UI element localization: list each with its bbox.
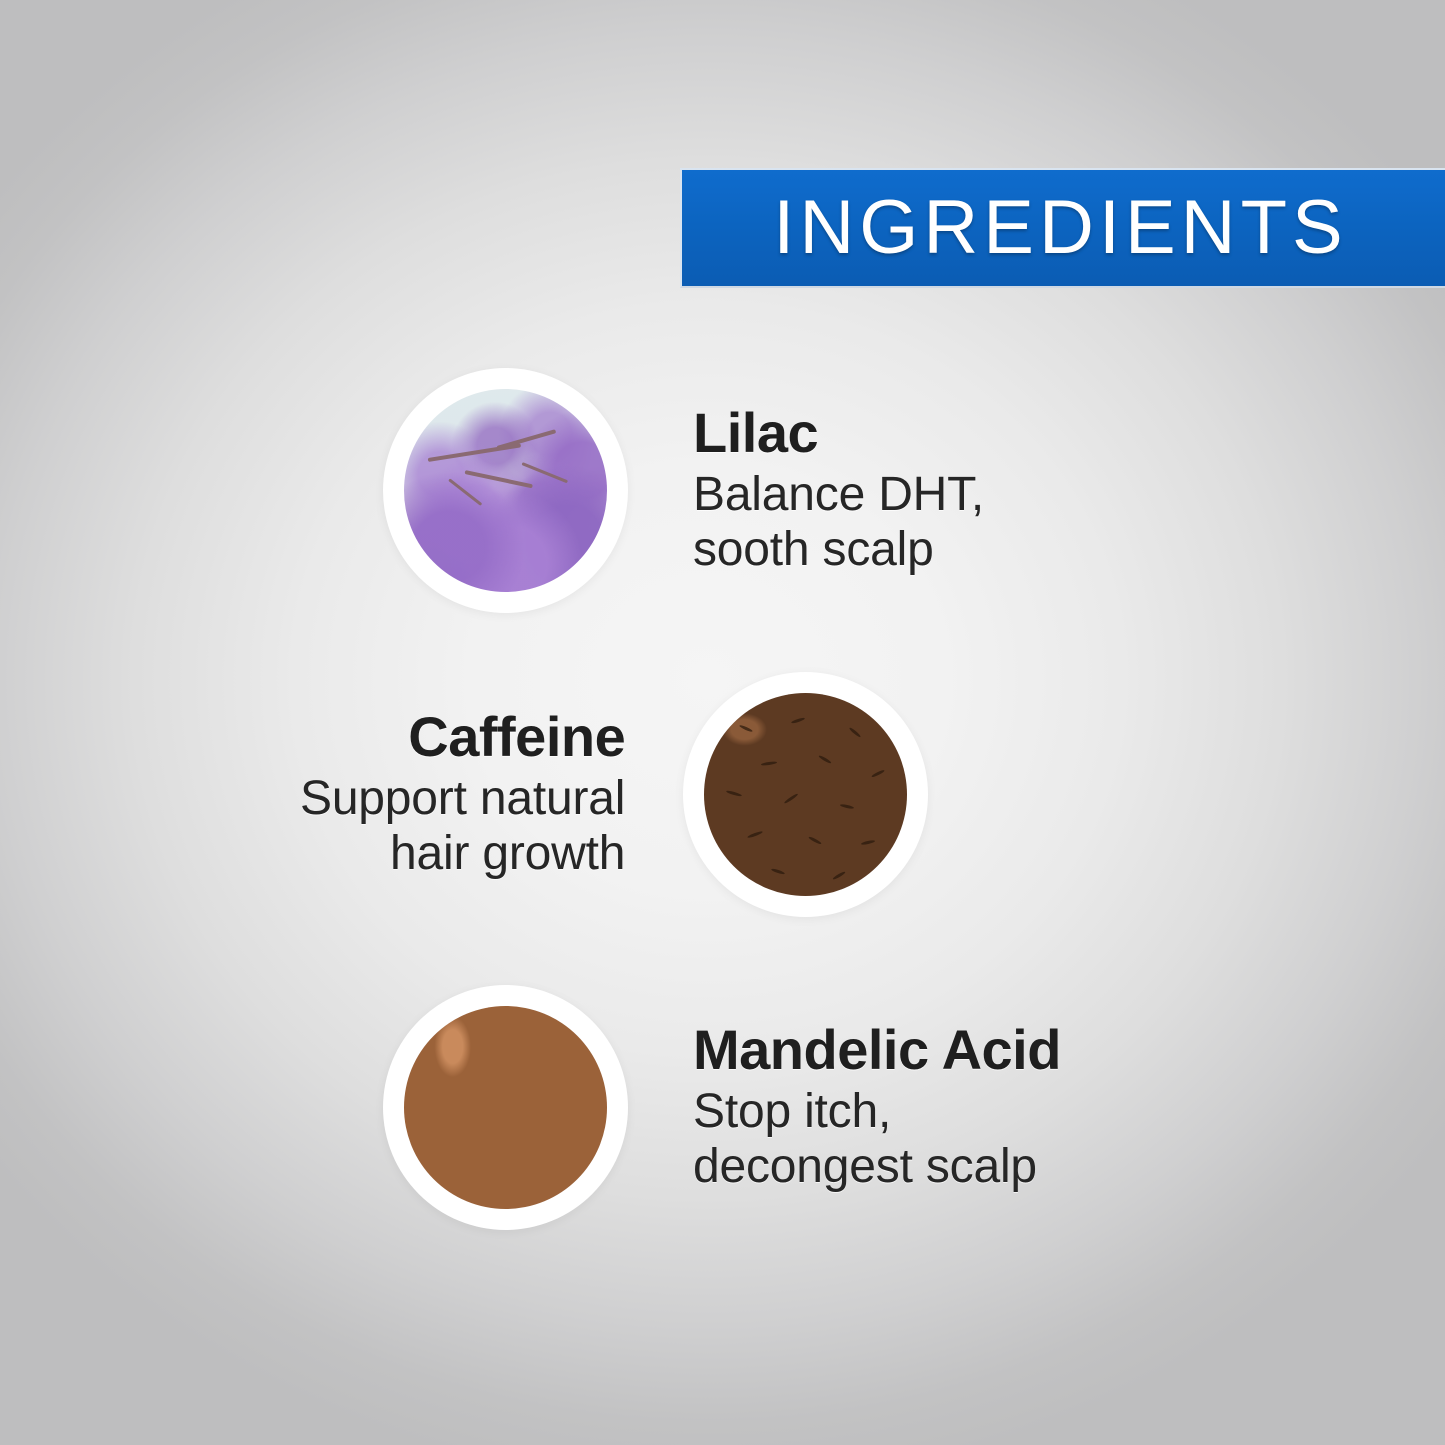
coffee-beans-photo — [704, 693, 907, 896]
caffeine-text-block: Caffeine Support natural hair growth — [300, 707, 625, 882]
ingredient-description-lilac: Balance DHT, sooth scalp — [693, 467, 984, 578]
almonds-photo — [404, 1006, 607, 1209]
page-title: INGREDIENTS — [773, 190, 1353, 266]
ingredient-row-mandelic-acid: Mandelic Acid Stop itch, decongest scalp — [383, 985, 1061, 1230]
ingredients-poster: INGREDIENTS Lilac Balance DHT, sooth sca… — [0, 0, 1445, 1445]
ingredients-banner: INGREDIENTS — [680, 168, 1445, 288]
ingredient-description-caffeine: Support natural hair growth — [300, 771, 625, 882]
ingredient-name-caffeine: Caffeine — [300, 707, 625, 766]
mandelic-acid-text-block: Mandelic Acid Stop itch, decongest scalp — [693, 1020, 1061, 1195]
ingredient-name-mandelic-acid: Mandelic Acid — [693, 1020, 1061, 1079]
mandelic-acid-image-circle — [383, 985, 628, 1230]
ingredient-name-lilac: Lilac — [693, 403, 984, 462]
lilac-text-block: Lilac Balance DHT, sooth scalp — [693, 403, 984, 578]
ingredient-description-mandelic-acid: Stop itch, decongest scalp — [693, 1084, 1061, 1195]
caffeine-image-circle — [683, 672, 928, 917]
lilac-flowers-photo — [404, 389, 607, 592]
ingredient-row-lilac: Lilac Balance DHT, sooth scalp — [383, 368, 984, 613]
ingredient-row-caffeine: Caffeine Support natural hair growth — [300, 672, 928, 917]
lilac-image-circle — [383, 368, 628, 613]
